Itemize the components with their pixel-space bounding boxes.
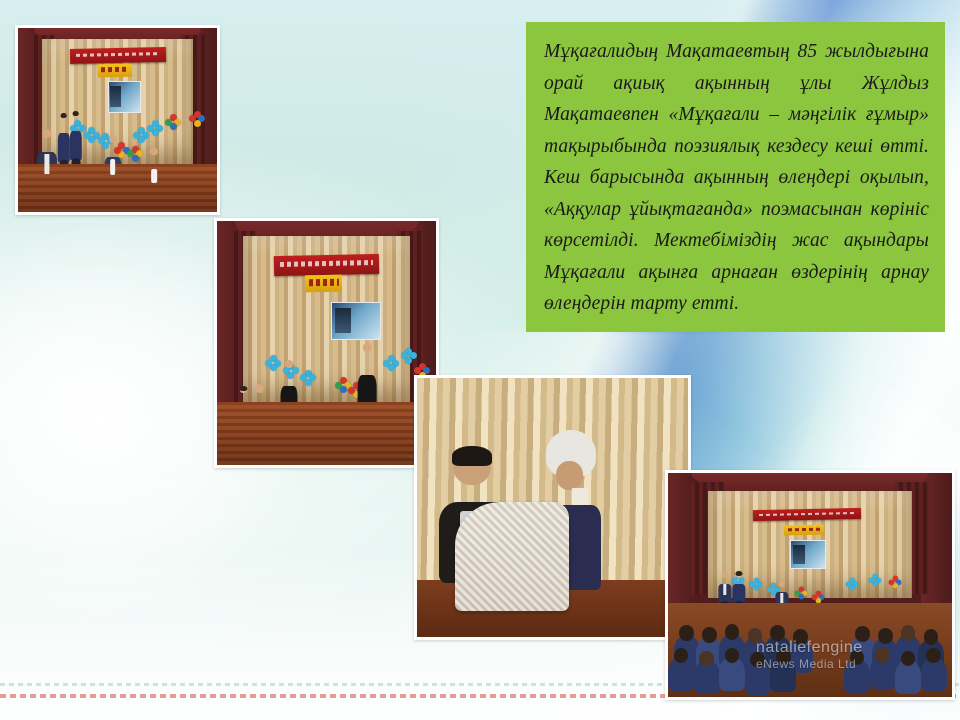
stage-scene bbox=[18, 28, 217, 212]
lace-shawl-prop bbox=[455, 502, 569, 611]
stage-banner-main bbox=[70, 47, 166, 64]
stage-poster bbox=[108, 81, 142, 112]
hall-wide-scene: nataliefengine eNews Media Ltd bbox=[668, 473, 952, 697]
stage-banner-main bbox=[274, 254, 379, 276]
photo-3-poem-scene[interactable] bbox=[414, 375, 691, 640]
presentation-slide: nataliefengine eNews Media Ltd Мұқағалид… bbox=[0, 0, 960, 720]
description-textbox: Мұқағалидың Мақатаевтың 85 жылдығына ора… bbox=[526, 22, 945, 332]
description-paragraph: Мұқағалидың Мақатаевтың 85 жылдығына ора… bbox=[544, 36, 929, 320]
stage-banner-sub bbox=[97, 64, 131, 77]
stage-banner-main bbox=[753, 508, 861, 521]
audience-seats bbox=[668, 603, 952, 697]
stage-scene bbox=[217, 221, 436, 465]
stage-poster bbox=[790, 540, 826, 569]
photo-2-stage-performance[interactable] bbox=[214, 218, 439, 468]
stage-banner-sub bbox=[784, 524, 824, 535]
stage-banner-sub bbox=[304, 274, 342, 292]
stage-poster bbox=[331, 302, 381, 341]
photo-4-audience-hall[interactable]: nataliefengine eNews Media Ltd bbox=[665, 470, 955, 700]
photo-1-hall-opening[interactable] bbox=[15, 25, 220, 215]
stage-closeup-scene bbox=[417, 378, 688, 637]
